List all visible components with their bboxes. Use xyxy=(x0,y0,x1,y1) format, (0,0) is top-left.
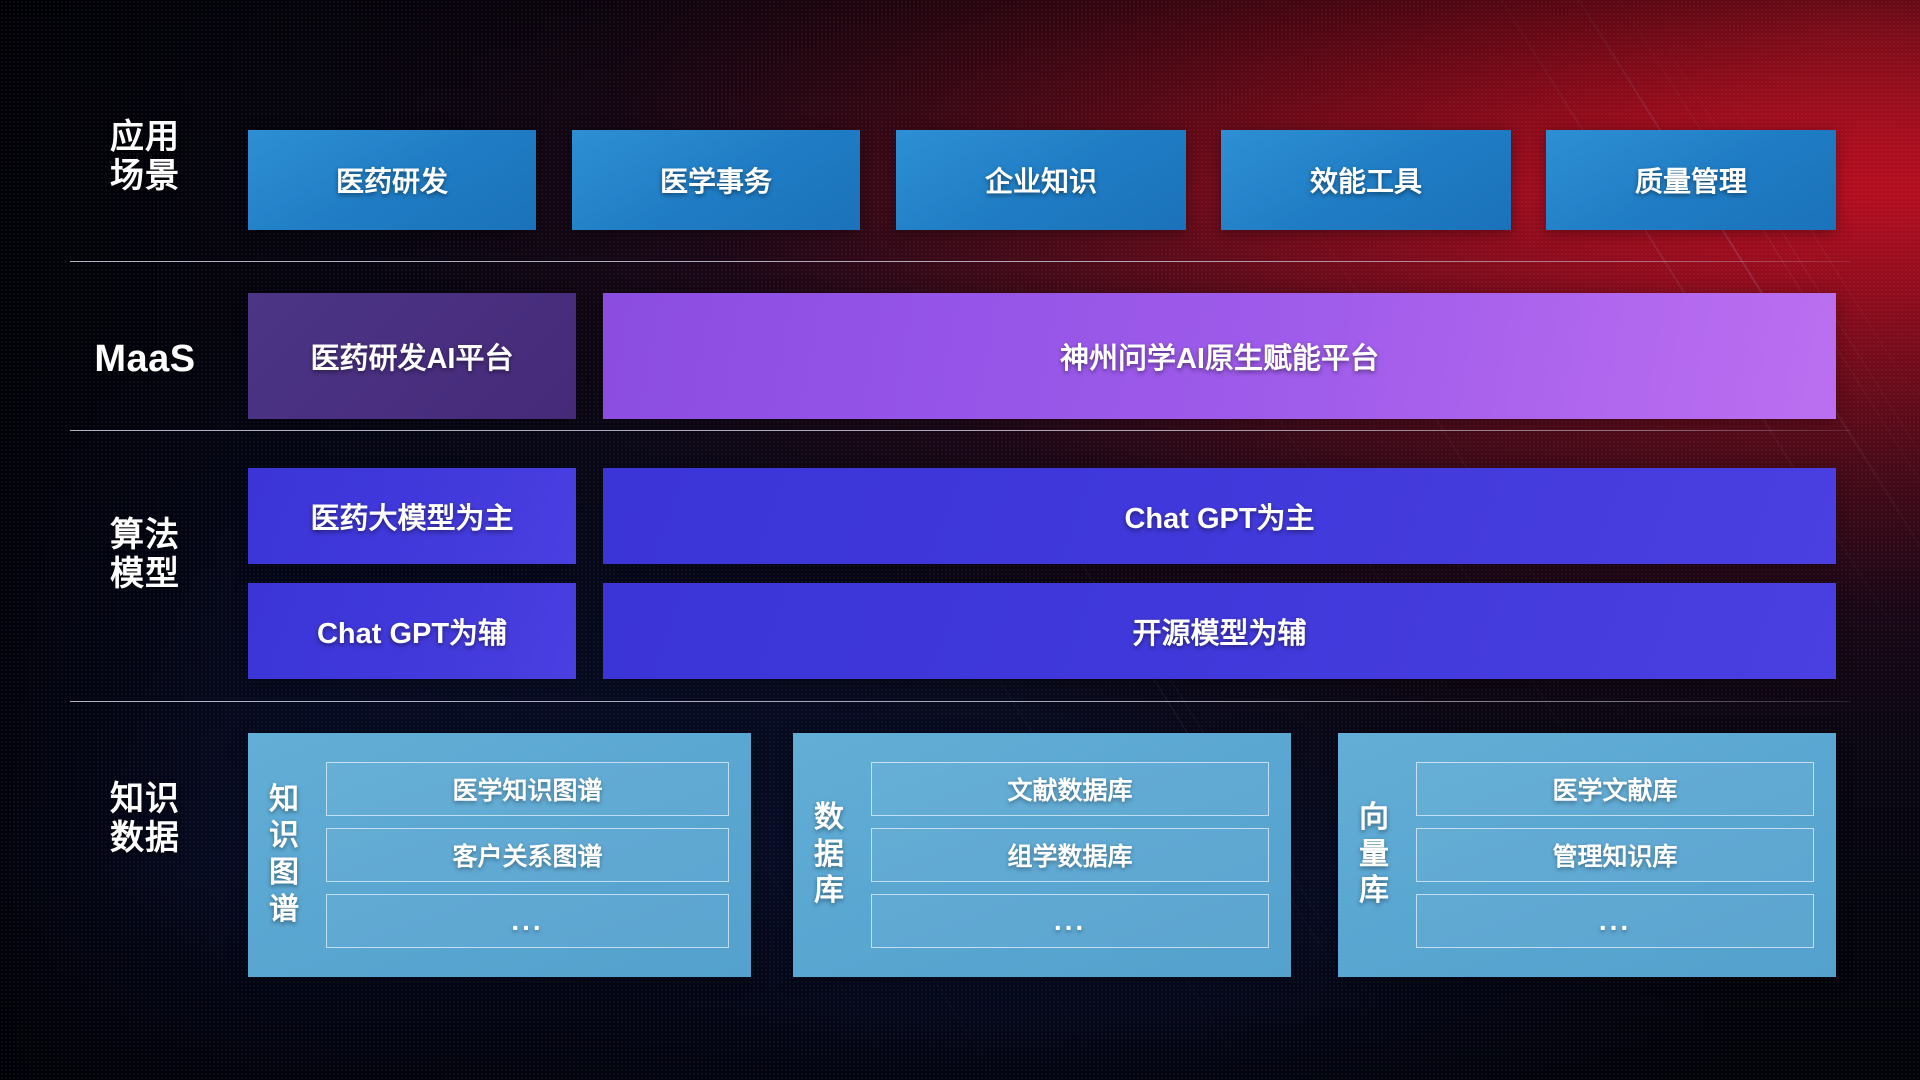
knowledge-item-more[interactable]: ... xyxy=(871,894,1269,948)
algo-box-label: 医药大模型为主 xyxy=(310,495,513,537)
knowledge-panel-vector-store[interactable]: 向 量 库 医学文献库 管理知识库 ... xyxy=(1338,733,1836,977)
knowledge-panel-database[interactable]: 数 据 库 文献数据库 组学数据库 ... xyxy=(793,733,1291,977)
app-box-label: 医药研发 xyxy=(336,160,448,200)
row-label-line: 模型 xyxy=(70,555,220,594)
knowledge-item-more[interactable]: ... xyxy=(1416,894,1814,948)
divider-2 xyxy=(70,430,1850,431)
app-box-3[interactable]: 效能工具 xyxy=(1221,130,1511,230)
app-box-0[interactable]: 医药研发 xyxy=(248,130,536,230)
row-label-line: MaaS xyxy=(70,337,220,381)
row-label-knowledge-data: 知识 数据 xyxy=(70,780,220,859)
knowledge-panel-knowledge-graph[interactable]: 知 识 图 谱 医学知识图谱 客户关系图谱 ... xyxy=(248,733,751,977)
knowledge-item-list: 医学文献库 管理知识库 ... xyxy=(1410,762,1836,948)
row-label-application-scenarios: 应用 场景 xyxy=(70,118,220,197)
divider-3 xyxy=(70,701,1850,702)
algo-box-opensource-aux[interactable]: 开源模型为辅 xyxy=(603,583,1836,679)
knowledge-item-list: 文献数据库 组学数据库 ... xyxy=(865,762,1291,948)
row-label-line: 应用 xyxy=(70,118,220,157)
vertical-label-char: 谱 xyxy=(269,892,299,929)
knowledge-item[interactable]: 医学文献库 xyxy=(1416,762,1814,816)
knowledge-item[interactable]: 管理知识库 xyxy=(1416,828,1814,882)
algo-box-chatgpt-aux[interactable]: Chat GPT为辅 xyxy=(248,583,576,679)
knowledge-item[interactable]: 客户关系图谱 xyxy=(326,828,729,882)
vertical-label-char: 向 xyxy=(1359,800,1389,837)
row-label-algorithm-models: 算法 模型 xyxy=(70,516,220,595)
vertical-label-char: 识 xyxy=(269,818,299,855)
app-box-1[interactable]: 医学事务 xyxy=(572,130,860,230)
knowledge-panel-vertical-label: 知 识 图 谱 xyxy=(248,782,320,928)
knowledge-item-more[interactable]: ... xyxy=(326,894,729,948)
knowledge-item[interactable]: 医学知识图谱 xyxy=(326,762,729,816)
app-box-label: 医学事务 xyxy=(660,160,772,200)
row-label-line: 场景 xyxy=(70,157,220,196)
app-box-label: 企业知识 xyxy=(985,160,1097,200)
app-box-label: 质量管理 xyxy=(1635,160,1747,200)
algo-box-chatgpt-main[interactable]: Chat GPT为主 xyxy=(603,468,1836,564)
vertical-label-char: 库 xyxy=(814,873,844,910)
maas-box-label: 医药研发AI平台 xyxy=(310,335,513,377)
knowledge-item[interactable]: 文献数据库 xyxy=(871,762,1269,816)
app-box-4[interactable]: 质量管理 xyxy=(1546,130,1836,230)
app-box-label: 效能工具 xyxy=(1310,160,1422,200)
knowledge-panel-vertical-label: 向 量 库 xyxy=(1338,800,1410,910)
slide-canvas: 应用 场景 医药研发 医学事务 企业知识 效能工具 质量管理 MaaS 医药研发… xyxy=(0,0,1920,1080)
vertical-label-char: 据 xyxy=(814,837,844,874)
app-box-2[interactable]: 企业知识 xyxy=(896,130,1186,230)
maas-box-pharma-platform[interactable]: 医药研发AI平台 xyxy=(248,293,576,419)
knowledge-panel-vertical-label: 数 据 库 xyxy=(793,800,865,910)
algo-box-label: 开源模型为辅 xyxy=(1132,610,1306,652)
row-label-maas: MaaS xyxy=(70,337,220,381)
knowledge-item-list: 医学知识图谱 客户关系图谱 ... xyxy=(320,762,751,948)
vertical-label-char: 库 xyxy=(1359,873,1389,910)
maas-box-label: 神州问学AI原生赋能平台 xyxy=(1060,335,1379,377)
algo-box-label: Chat GPT为主 xyxy=(1124,495,1314,537)
divider-1 xyxy=(70,261,1850,262)
vertical-label-char: 知 xyxy=(269,782,299,819)
vertical-label-char: 图 xyxy=(269,855,299,892)
knowledge-item[interactable]: 组学数据库 xyxy=(871,828,1269,882)
algo-box-pharma-main[interactable]: 医药大模型为主 xyxy=(248,468,576,564)
architecture-diagram: 应用 场景 医药研发 医学事务 企业知识 效能工具 质量管理 MaaS 医药研发… xyxy=(0,0,1920,1080)
maas-box-shenzhou-platform[interactable]: 神州问学AI原生赋能平台 xyxy=(603,293,1836,419)
row-label-line: 算法 xyxy=(70,516,220,555)
algo-box-label: Chat GPT为辅 xyxy=(317,610,507,652)
row-label-line: 知识 xyxy=(70,780,220,819)
vertical-label-char: 数 xyxy=(814,800,844,837)
row-label-line: 数据 xyxy=(70,819,220,858)
vertical-label-char: 量 xyxy=(1359,837,1389,874)
